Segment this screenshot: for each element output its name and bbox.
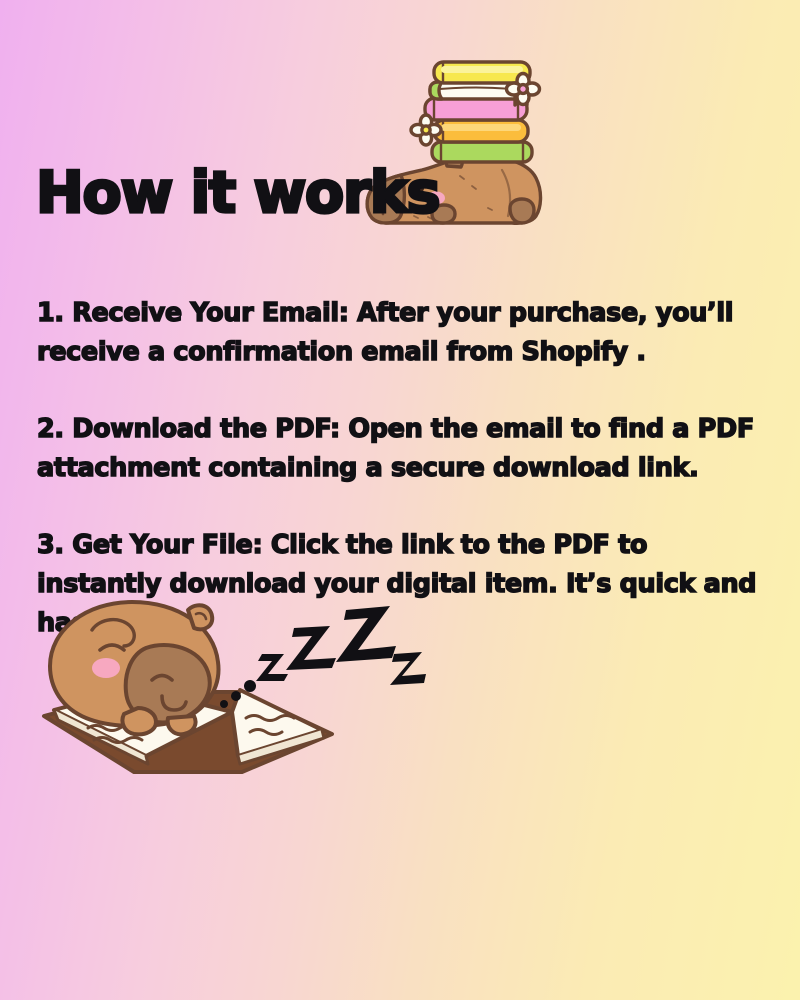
sleeping-capybara-illustration <box>28 588 428 792</box>
step-item-1: 1. Receive Your Email: After your purcha… <box>37 294 765 372</box>
page-title: How it works <box>36 162 439 224</box>
poster-canvas: How it works 1. Receive Your Email: Afte… <box>0 0 800 1000</box>
step-item-2: 2. Download the PDF: Open the email to f… <box>37 410 765 488</box>
sleeping-capybara-body <box>50 602 218 734</box>
book-stack <box>425 62 532 162</box>
snore-text-zzz <box>256 606 426 685</box>
steps-list: 1. Receive Your Email: After your purcha… <box>37 268 765 643</box>
